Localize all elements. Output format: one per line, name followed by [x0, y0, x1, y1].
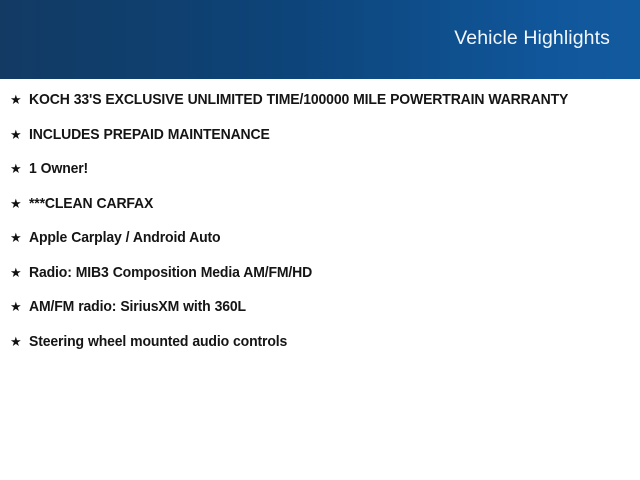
star-icon: ★: [10, 90, 29, 111]
star-icon: ★: [10, 228, 29, 249]
list-item-label: Apple Carplay / Android Auto: [29, 228, 598, 249]
list-item: ★ Radio: MIB3 Composition Media AM/FM/HD: [0, 263, 640, 284]
list-item-label: INCLUDES PREPAID MAINTENANCE: [29, 125, 598, 146]
list-item: ★ Apple Carplay / Android Auto: [0, 228, 640, 249]
list-item-label: AM/FM radio: SiriusXM with 360L: [29, 297, 598, 318]
list-item-label: Radio: MIB3 Composition Media AM/FM/HD: [29, 263, 598, 284]
page-title: Vehicle Highlights: [454, 29, 610, 49]
star-icon: ★: [10, 263, 29, 284]
list-item-label: KOCH 33'S EXCLUSIVE UNLIMITED TIME/10000…: [29, 90, 598, 111]
list-item-label: 1 Owner!: [29, 159, 598, 180]
list-item-label: ***CLEAN CARFAX: [29, 194, 598, 215]
list-item-label: Steering wheel mounted audio controls: [29, 332, 598, 353]
list-item: ★ 1 Owner!: [0, 159, 640, 180]
star-icon: ★: [10, 297, 29, 318]
list-item: ★ AM/FM radio: SiriusXM with 360L: [0, 297, 640, 318]
star-icon: ★: [10, 332, 29, 353]
list-item: ★ KOCH 33'S EXCLUSIVE UNLIMITED TIME/100…: [0, 90, 640, 111]
star-icon: ★: [10, 125, 29, 146]
list-item: ★ INCLUDES PREPAID MAINTENANCE: [0, 125, 640, 146]
vehicle-highlights-page: Vehicle Highlights ★ KOCH 33'S EXCLUSIVE…: [0, 0, 640, 480]
vehicle-highlights-list: ★ KOCH 33'S EXCLUSIVE UNLIMITED TIME/100…: [0, 79, 640, 352]
star-icon: ★: [10, 159, 29, 180]
star-icon: ★: [10, 194, 29, 215]
list-item: ★ ***CLEAN CARFAX: [0, 194, 640, 215]
header-band: Vehicle Highlights: [0, 0, 640, 79]
list-item: ★ Steering wheel mounted audio controls: [0, 332, 640, 353]
